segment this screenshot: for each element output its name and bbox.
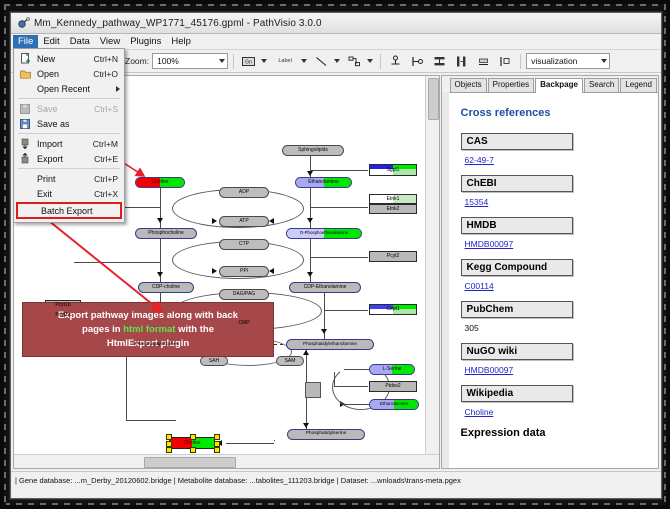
cofactor-label-cmp: CMP xyxy=(238,321,249,326)
callout-line-1: Export pathway images along with back xyxy=(58,309,238,323)
metabolite-label-phosphatidylserine: Phosphatidylserine xyxy=(306,432,347,437)
menu-data[interactable]: Data xyxy=(65,35,95,49)
align-left-icon[interactable] xyxy=(408,52,427,71)
metabolite-label-ethanolamine-right: Ethanolamine xyxy=(380,402,408,407)
menu-item-import[interactable]: Import Ctrl+M xyxy=(14,136,124,151)
cofactor-label-sam: SAM xyxy=(285,359,296,364)
menu-item-exit[interactable]: Exit Ctrl+X xyxy=(14,186,124,201)
expression-data-title: Expression data xyxy=(461,427,648,439)
edge-pcyt1-line xyxy=(74,262,160,263)
datanode-tool-icon[interactable]: Gn xyxy=(239,52,258,71)
arrow-cdpetn-down xyxy=(321,329,327,334)
xref-source-kegg: Kegg Compound xyxy=(461,259,573,276)
menu-separator-2 xyxy=(18,133,120,134)
gene-node-etnk1[interactable]: Etnk1 xyxy=(369,194,417,204)
same-width-icon[interactable] xyxy=(474,52,493,71)
blank-icon xyxy=(18,83,32,95)
frame-left xyxy=(4,4,6,505)
side-panel-tabstrip: Objects Properties Backpage Search Legen… xyxy=(442,76,658,93)
arrow-ctp-ppi-right xyxy=(212,268,217,274)
edge-sgpl1 xyxy=(310,170,368,171)
menu-item-batch-export-label: Batch Export xyxy=(36,206,116,216)
menu-item-import-label: Import xyxy=(32,139,93,149)
edge-ptdser-choline xyxy=(226,443,274,444)
arrow-ptdser-up xyxy=(303,350,309,355)
metabolite-label-phosphatidylcholines: Phosphatidylcholines xyxy=(135,342,178,347)
cofactor-label-dag-pag: DAG/PAG xyxy=(233,292,255,297)
xref-source-chebi: ChEBI xyxy=(461,175,573,192)
title-bar: Mm_Kennedy_pathway_WP1771_45176.gpml - P… xyxy=(11,13,661,34)
menu-item-print[interactable]: Print Ctrl+P xyxy=(14,171,124,186)
edge-etnk xyxy=(310,207,368,208)
zoom-label: Zoom: xyxy=(125,56,149,66)
arrow-sphingolipid-down xyxy=(307,171,313,176)
metabolite-label-ethanolamine-top: Ethanolamine xyxy=(308,180,339,185)
align-columns-icon[interactable] xyxy=(452,52,471,71)
open-folder-icon xyxy=(18,68,32,80)
cofactor-node-atp[interactable]: ATP xyxy=(219,216,269,227)
selection-handle-nw[interactable] xyxy=(166,434,172,440)
menu-item-open-recent-label: Open Recent xyxy=(32,84,116,94)
visualization-value: visualization xyxy=(531,56,577,66)
metabolite-label-sphingolipids: Sphingolipids xyxy=(298,148,328,153)
annotation-callout: Export pathway images along with back pa… xyxy=(22,302,274,357)
metabolite-node-cdp-ethanolamine[interactable]: CDP-Ethanolamine xyxy=(289,282,361,293)
status-bar: | Gene database: ...m_Derby_20120602.bri… xyxy=(11,471,661,488)
xref-source-nugo: NuGO wiki xyxy=(461,343,573,360)
gene-label-pcyt2: Pcyt2 xyxy=(387,254,400,259)
cofactor-node-adp[interactable]: ADP xyxy=(219,187,269,198)
metabolite-node-ethanolamine-right[interactable]: Ethanolamine xyxy=(369,399,419,410)
menu-separator-3 xyxy=(18,168,120,169)
menu-item-exit-label: Exit xyxy=(32,189,94,199)
menu-item-new-label: New xyxy=(32,54,94,64)
menu-item-export[interactable]: Export Ctrl+E xyxy=(14,151,124,166)
arrow-adp-atp-left xyxy=(269,218,274,224)
datanode-dropdown-arrow-icon[interactable] xyxy=(261,59,267,63)
toolbar-separator-3 xyxy=(520,54,521,69)
frame-top xyxy=(4,4,666,6)
metabolite-label-l-serine: L-Serine xyxy=(383,367,402,372)
xref-value-hmdb[interactable]: HMDB00097 xyxy=(465,239,648,249)
menu-item-save-label: Save xyxy=(32,104,94,114)
file-menu-dropdown: New Ctrl+N Open Ctrl+O Open Recent xyxy=(13,48,125,223)
callout-line-2-c: with the xyxy=(175,324,214,335)
menu-edit[interactable]: Edit xyxy=(38,35,64,49)
metabolite-node-phosphatidylserine[interactable]: Phosphatidylserine xyxy=(287,429,365,440)
cofactor-label-sah: SAH xyxy=(209,359,219,364)
align-rows-icon[interactable] xyxy=(430,52,449,71)
metabolite-node-cdp-choline[interactable]: CDP-choline xyxy=(138,282,194,293)
shape-box xyxy=(305,382,321,398)
metabolite-node-o-phosphoethanolamine[interactable]: O-Phosphoethanolamine xyxy=(286,228,362,239)
metabolite-node-sphingolipids[interactable]: Sphingolipids xyxy=(282,145,344,156)
menu-item-open-label: Open xyxy=(32,69,93,79)
menu-item-save-as[interactable]: Save as xyxy=(14,116,124,131)
pathvisio-icon xyxy=(17,17,30,30)
menu-item-export-label: Export xyxy=(32,154,94,164)
new-file-icon xyxy=(18,53,32,65)
canvas-vertical-scroll-thumb[interactable] xyxy=(428,78,439,120)
selection-handle-se[interactable] xyxy=(214,447,220,453)
save-icon xyxy=(18,103,32,115)
metabolite-node-l-serine[interactable]: L-Serine xyxy=(369,364,415,375)
menu-plugins[interactable]: Plugins xyxy=(125,35,166,49)
xref-value-cas[interactable]: 62-49-7 xyxy=(465,155,648,165)
menu-item-import-shortcut: Ctrl+M xyxy=(93,139,120,149)
arrow-phosphocholine-down xyxy=(157,272,163,277)
gene-label-cept1: Cept1 xyxy=(386,307,399,312)
gene-node-etnk2[interactable]: Etnk2 xyxy=(369,204,417,214)
backpage-content: Cross references CAS 62-49-7 ChEBI 15354… xyxy=(449,93,658,468)
same-height-icon[interactable] xyxy=(496,52,515,71)
metabolite-label-choline-selected: Choline xyxy=(184,441,201,446)
tab-search[interactable]: Search xyxy=(584,78,619,92)
zoom-value: 100% xyxy=(157,56,179,66)
canvas-horizontal-scroll-thumb[interactable] xyxy=(144,457,236,468)
blank-icon-batch xyxy=(22,205,36,217)
menu-item-exit-shortcut: Ctrl+X xyxy=(94,189,120,199)
menu-separator-1 xyxy=(18,98,120,99)
metabolite-node-ethanolamine-top[interactable]: Ethanolamine xyxy=(295,177,352,188)
metabolite-label-cdp-ethanolamine: CDP-Ethanolamine xyxy=(304,285,347,290)
menu-item-export-shortcut: Ctrl+E xyxy=(94,154,120,164)
xref-source-cas: CAS xyxy=(461,133,573,150)
xref-value-kegg[interactable]: C00114 xyxy=(465,281,648,291)
selection-handle-s[interactable] xyxy=(190,447,196,453)
menu-file[interactable]: File xyxy=(13,35,38,49)
tab-backpage[interactable]: Backpage xyxy=(535,78,583,93)
gene-node-ptdss2[interactable]: Ptdss2 xyxy=(369,381,417,392)
metabolite-label-cdp-choline: CDP-choline xyxy=(152,285,180,290)
gene-label-pcyt1b: Pcyt1b xyxy=(55,303,70,308)
blank-icon-print xyxy=(18,173,32,185)
selection-handle-ne[interactable] xyxy=(214,434,220,440)
menu-item-print-shortcut: Ctrl+P xyxy=(94,174,120,184)
menu-item-save-shortcut: Ctrl+S xyxy=(94,104,120,114)
callout-line-2-a: pages in xyxy=(82,324,123,335)
chevron-down-icon-visualization xyxy=(601,59,607,63)
connector-tool-icon[interactable] xyxy=(345,52,364,71)
menu-item-open[interactable]: Open Ctrl+O xyxy=(14,66,124,81)
xref-source-hmdb: HMDB xyxy=(461,217,573,234)
menu-item-print-label: Print xyxy=(32,174,94,184)
cofactor-node-ppi[interactable]: PPi xyxy=(219,266,269,277)
align-top-icon[interactable] xyxy=(386,52,405,71)
cofactor-label-adp: ADP xyxy=(239,190,249,195)
backpage-title: Cross references xyxy=(461,107,648,119)
edge-ptdcho-choline xyxy=(126,350,127,420)
gene-node-sgpl1[interactable]: Sgpl1 xyxy=(369,164,417,176)
menu-item-save-as-label: Save as xyxy=(32,119,118,129)
visualization-combo[interactable]: visualization xyxy=(526,53,610,69)
import-icon xyxy=(18,138,32,150)
xref-value-pubchem: 305 xyxy=(465,323,648,333)
metabolite-node-phosphatidylethanolamine[interactable]: Phosphatidylethanolamine xyxy=(286,339,374,350)
gene-node-cept1[interactable]: Cept1 xyxy=(369,304,417,315)
chevron-down-icon xyxy=(219,59,225,63)
callout-highlight-text: html format xyxy=(123,324,175,335)
arrow-ethanolamine-down xyxy=(307,218,313,223)
menu-item-new-shortcut: Ctrl+N xyxy=(94,54,120,64)
metabolite-node-choline-top[interactable]: Choline xyxy=(135,177,185,188)
cofactor-label-ppi: PPi xyxy=(240,269,248,274)
edge-pcyt2-line xyxy=(310,257,368,258)
cofactor-label-atp: ATP xyxy=(239,219,248,224)
edge-dummy xyxy=(274,440,275,441)
export-icon xyxy=(18,153,32,165)
frame-bottom xyxy=(4,503,666,505)
canvas-horizontal-scrollbar[interactable] xyxy=(14,454,439,468)
arrow-ptdser-down xyxy=(303,423,309,428)
tab-objects[interactable]: Objects xyxy=(450,78,487,92)
gene-label-etnk2: Etnk2 xyxy=(387,207,400,212)
gene-label-sgpl1: Sgpl1 xyxy=(387,168,400,173)
cofactor-label-ctp: CTP xyxy=(239,242,249,247)
metabolite-label-phosphatidylethanolamine: Phosphatidylethanolamine xyxy=(303,342,357,347)
save-as-icon xyxy=(18,118,32,130)
xref-source-wikipedia: Wikipedia xyxy=(461,385,573,402)
menu-bar: File Edit Data View Plugins Help New Ctr… xyxy=(11,34,661,50)
window-title: Mm_Kennedy_pathway_WP1771_45176.gpml - P… xyxy=(34,18,322,29)
selection-handle-sw[interactable] xyxy=(166,447,172,453)
canvas-vertical-scrollbar[interactable] xyxy=(425,76,439,468)
cofactor-node-dag-pag[interactable]: DAG/PAG xyxy=(219,289,269,300)
label-dropdown-arrow-icon[interactable] xyxy=(301,59,307,63)
toolbar-separator-2 xyxy=(380,54,381,69)
connector-dropdown-arrow-icon[interactable] xyxy=(367,59,373,63)
menu-view[interactable]: View xyxy=(95,35,125,49)
menu-item-open-shortcut: Ctrl+O xyxy=(93,69,120,79)
tab-legend[interactable]: Legend xyxy=(620,78,657,92)
zoom-combo[interactable]: 100% xyxy=(152,53,228,69)
arrow-ctp-ppi-left xyxy=(269,268,274,274)
arrow-ope-down xyxy=(307,272,313,277)
cofactor-node-ctp[interactable]: CTP xyxy=(219,239,269,250)
tab-properties[interactable]: Properties xyxy=(488,78,534,92)
cofactor-node-sam[interactable]: SAM xyxy=(276,356,304,366)
metabolite-label-choline-top: Choline xyxy=(152,180,169,185)
callout-line-2: pages in html format with the xyxy=(82,323,214,337)
application-window: Mm_Kennedy_pathway_WP1771_45176.gpml - P… xyxy=(10,12,662,499)
toolbar-separator-1 xyxy=(233,54,234,69)
menu-item-new[interactable]: New Ctrl+N xyxy=(14,51,124,66)
gene-node-pcyt2[interactable]: Pcyt2 xyxy=(369,251,417,262)
gene-label-pcyt1a: Pcyt1a xyxy=(55,313,70,318)
gene-label-ptdss2: Ptdss2 xyxy=(385,384,400,389)
xref-value-chebi[interactable]: 15354 xyxy=(465,197,648,207)
status-bar-text: | Gene database: ...m_Derby_20120602.bri… xyxy=(15,476,461,485)
svg-text:Gn: Gn xyxy=(245,59,252,65)
xref-value-wikipedia[interactable]: Choline xyxy=(465,407,648,417)
line-dropdown-arrow-icon[interactable] xyxy=(334,59,340,63)
xref-value-nugo[interactable]: HMDB00097 xyxy=(465,365,648,375)
cofactor-node-sah[interactable]: SAH xyxy=(200,356,228,366)
menu-item-save: Save Ctrl+S xyxy=(14,101,124,116)
label-tool-icon[interactable]: Label xyxy=(272,52,298,71)
metabolite-node-phosphocholine[interactable]: Phosphocholine xyxy=(135,228,197,239)
blank-icon-exit xyxy=(18,188,32,200)
side-panel: Objects Properties Backpage Search Legen… xyxy=(441,75,659,469)
menu-item-open-recent[interactable]: Open Recent xyxy=(14,81,124,96)
line-tool-icon[interactable] xyxy=(312,52,331,71)
arrow-adp-atp-right xyxy=(212,218,217,224)
arrow-choline-down xyxy=(157,218,163,223)
gene-label-etnk1: Etnk1 xyxy=(387,197,400,202)
menu-item-batch-export[interactable]: Batch Export xyxy=(16,202,122,219)
metabolite-label-phosphocholine: Phosphocholine xyxy=(148,231,184,236)
menu-help[interactable]: Help xyxy=(166,35,196,49)
metabolite-label-o-phosphoethanolamine: O-Phosphoethanolamine xyxy=(300,231,349,235)
submenu-arrow-icon xyxy=(116,86,120,92)
frame-right xyxy=(664,4,666,505)
edge-ptdcho-choline-h xyxy=(126,420,176,421)
screenshot-root: Mm_Kennedy_pathway_WP1771_45176.gpml - P… xyxy=(0,0,670,509)
xref-source-pubchem: PubChem xyxy=(461,301,573,318)
edge-cept1-line xyxy=(324,310,368,311)
